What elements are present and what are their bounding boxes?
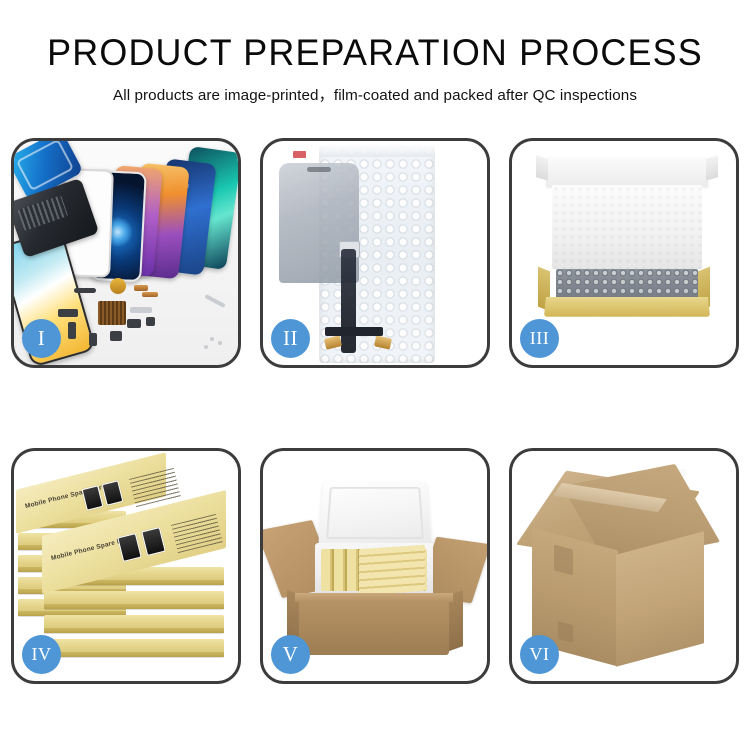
step-badge-6: VI (520, 635, 559, 674)
step-badge-2: II (271, 319, 310, 358)
bubble-padding (556, 269, 698, 299)
step-panel-5[interactable]: V (260, 448, 490, 684)
inner-box-lid (546, 157, 708, 187)
step-badge-4: IV (22, 635, 61, 674)
carton-body-front (299, 593, 449, 655)
part-screw-c (204, 345, 208, 349)
part-button (146, 317, 155, 326)
part-sensor-flex (130, 307, 152, 313)
part-sim-tray (89, 333, 97, 346)
part-screw-b (218, 341, 222, 345)
qc-sticker (293, 151, 306, 158)
step-panel-2[interactable]: II (260, 138, 490, 368)
page-title: PRODUCT PREPARATION PROCESS (11, 34, 739, 71)
carton-handle-slot-upper (554, 544, 573, 575)
part-screwdriver (204, 294, 225, 308)
stacked-box-r4 (44, 639, 224, 657)
box-front-panel (544, 297, 710, 317)
display-flex-cable (341, 249, 356, 353)
part-connector-grid (98, 301, 126, 325)
part-bracket-b (68, 322, 76, 339)
bag-seal (319, 145, 435, 157)
part-flex-cable-a (134, 285, 148, 291)
stacked-box-r2 (44, 591, 224, 609)
step-panel-1[interactable]: 10:08 I (11, 138, 241, 368)
foam-box-lid (318, 481, 432, 546)
gold-boxes-row-b (359, 545, 425, 596)
part-bracket-a (58, 309, 78, 317)
foam-sheet (552, 185, 702, 269)
process-steps-grid: 10:08 I (11, 138, 739, 684)
part-speaker (74, 288, 96, 293)
page-header: PRODUCT PREPARATION PROCESS All products… (0, 0, 750, 105)
stacked-box-r3 (44, 615, 224, 633)
part-screw-a (210, 337, 214, 341)
step-panel-4[interactable]: Mobile Phone Spare Parts Mobile Phone Sp… (11, 448, 241, 684)
page-subtitle: All products are image-printed，film-coat… (0, 71, 750, 105)
part-camera (127, 319, 141, 328)
step-badge-3: III (520, 319, 559, 358)
step-badge-5: V (271, 635, 310, 674)
flex-bottom-bar (325, 327, 383, 336)
step-panel-3[interactable]: III (509, 138, 739, 368)
carton-face-right (616, 531, 704, 667)
step-badge-1: I (22, 319, 61, 358)
screen-notch (307, 167, 331, 172)
part-vibrator (110, 331, 122, 341)
part-flex-cable-b (142, 292, 158, 297)
step-panel-6[interactable]: VI (509, 448, 739, 684)
part-taptic-coil (110, 278, 126, 294)
carton-handle-slot-lower (558, 621, 573, 643)
